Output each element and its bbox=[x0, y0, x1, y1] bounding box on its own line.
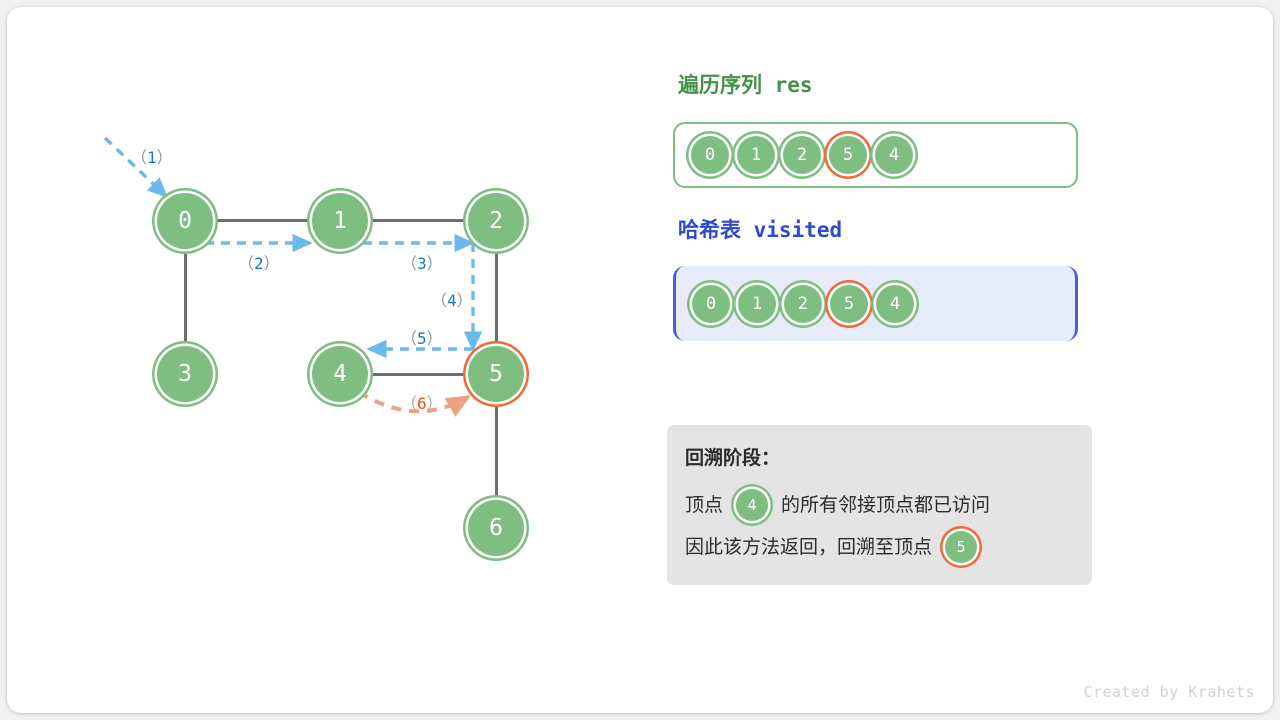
visited-heading: 哈希表 visited bbox=[678, 214, 842, 244]
res-container: 0 1 2 5 4 bbox=[673, 122, 1078, 188]
res-cell-2[interactable]: 2 bbox=[783, 136, 821, 174]
graph-node-3-label: 3 bbox=[178, 361, 192, 387]
watermark: Created by Krahets bbox=[1083, 683, 1255, 701]
paren-close: ） bbox=[427, 254, 443, 273]
graph-node-0-label: 0 bbox=[178, 208, 192, 234]
paren-close: ） bbox=[157, 148, 173, 167]
visited-cell-1[interactable]: 1 bbox=[738, 285, 776, 323]
step-number: 6 bbox=[417, 394, 427, 413]
graph-node-4-label: 4 bbox=[333, 361, 347, 387]
res-cell-4[interactable]: 4 bbox=[875, 136, 913, 174]
visited-cell-label: 2 bbox=[798, 294, 808, 314]
visited-container: 0 1 2 5 4 bbox=[673, 266, 1078, 341]
step-label-1: （1） bbox=[131, 144, 173, 168]
graph-node-3[interactable]: 3 bbox=[157, 346, 213, 402]
visited-cell-label: 0 bbox=[706, 294, 716, 314]
step-label-3: （3） bbox=[401, 250, 443, 274]
paren-open: （ bbox=[401, 394, 417, 413]
graph-node-5-label: 5 bbox=[489, 361, 503, 387]
graph-node-1-label: 1 bbox=[333, 208, 347, 234]
res-cell-3[interactable]: 5 bbox=[829, 136, 867, 174]
res-cell-label: 2 bbox=[797, 145, 807, 165]
visited-cell-label: 5 bbox=[844, 294, 854, 314]
paren-open: （ bbox=[238, 254, 254, 273]
backtrack-info-box: 回溯阶段： 顶点 4 的所有邻接顶点都已访问 因此该方法返回，回溯至顶点 5 bbox=[667, 425, 1092, 585]
res-cell-list: 0 1 2 5 4 bbox=[691, 124, 913, 186]
info-line-1-after: 的所有邻接顶点都已访问 bbox=[781, 496, 990, 515]
graph-node-6-label: 6 bbox=[489, 515, 503, 541]
graph-node-5[interactable]: 5 bbox=[468, 346, 524, 402]
info-line-2-before: 因此该方法返回，回溯至顶点 bbox=[685, 538, 932, 557]
step-label-2: （2） bbox=[238, 250, 280, 274]
info-line-1-before: 顶点 bbox=[685, 496, 723, 515]
step-label-5: （5） bbox=[401, 325, 443, 349]
visited-cell-4[interactable]: 4 bbox=[876, 285, 914, 323]
graph-node-2[interactable]: 2 bbox=[468, 193, 524, 249]
step-number: 1 bbox=[147, 148, 157, 167]
step-label-6: （6） bbox=[401, 390, 443, 414]
info-line-2: 因此该方法返回，回溯至顶点 5 bbox=[685, 530, 1092, 564]
paren-close: ） bbox=[264, 254, 280, 273]
visited-cell-2[interactable]: 2 bbox=[784, 285, 822, 323]
info-chip-vertex-5: 5 bbox=[945, 531, 977, 563]
visited-cell-label: 1 bbox=[752, 294, 762, 314]
paren-close: ） bbox=[457, 291, 473, 310]
info-chip-label: 5 bbox=[957, 540, 966, 555]
paren-close: ） bbox=[427, 329, 443, 348]
graph-diagram: 0 1 2 3 4 5 6 （1） （2） （3） （4） （5） （6） bbox=[7, 7, 647, 713]
paren-close: ） bbox=[427, 394, 443, 413]
res-cell-label: 1 bbox=[751, 145, 761, 165]
step-number: 4 bbox=[447, 291, 457, 310]
res-cell-1[interactable]: 1 bbox=[737, 136, 775, 174]
page-card: 0 1 2 3 4 5 6 （1） （2） （3） （4） （5） （6） 遍历… bbox=[7, 7, 1273, 713]
graph-node-4[interactable]: 4 bbox=[312, 346, 368, 402]
paren-open: （ bbox=[431, 291, 447, 310]
step-label-4: （4） bbox=[431, 287, 473, 311]
visited-cell-0[interactable]: 0 bbox=[692, 285, 730, 323]
paren-open: （ bbox=[401, 329, 417, 348]
step-number: 3 bbox=[417, 254, 427, 273]
visited-cell-3[interactable]: 5 bbox=[830, 285, 868, 323]
step-number: 5 bbox=[417, 329, 427, 348]
graph-node-0[interactable]: 0 bbox=[157, 193, 213, 249]
info-chip-label: 4 bbox=[748, 498, 757, 513]
visited-cell-list: 0 1 2 5 4 bbox=[692, 266, 914, 341]
state-panel: 遍历序列 res 0 1 2 5 4 哈希表 visited 0 bbox=[667, 7, 1280, 713]
res-cell-label: 0 bbox=[705, 145, 715, 165]
res-cell-label: 5 bbox=[843, 145, 853, 165]
res-cell-label: 4 bbox=[889, 145, 899, 165]
info-title: 回溯阶段： bbox=[685, 449, 1092, 468]
info-chip-vertex-4: 4 bbox=[736, 489, 768, 521]
paren-open: （ bbox=[401, 254, 417, 273]
visited-cell-label: 4 bbox=[890, 294, 900, 314]
info-line-1: 顶点 4 的所有邻接顶点都已访问 bbox=[685, 488, 1092, 522]
graph-node-1[interactable]: 1 bbox=[312, 193, 368, 249]
res-cell-0[interactable]: 0 bbox=[691, 136, 729, 174]
paren-open: （ bbox=[131, 148, 147, 167]
graph-node-6[interactable]: 6 bbox=[468, 500, 524, 556]
graph-node-2-label: 2 bbox=[489, 208, 503, 234]
step-number: 2 bbox=[254, 254, 264, 273]
res-heading: 遍历序列 res bbox=[678, 69, 813, 99]
